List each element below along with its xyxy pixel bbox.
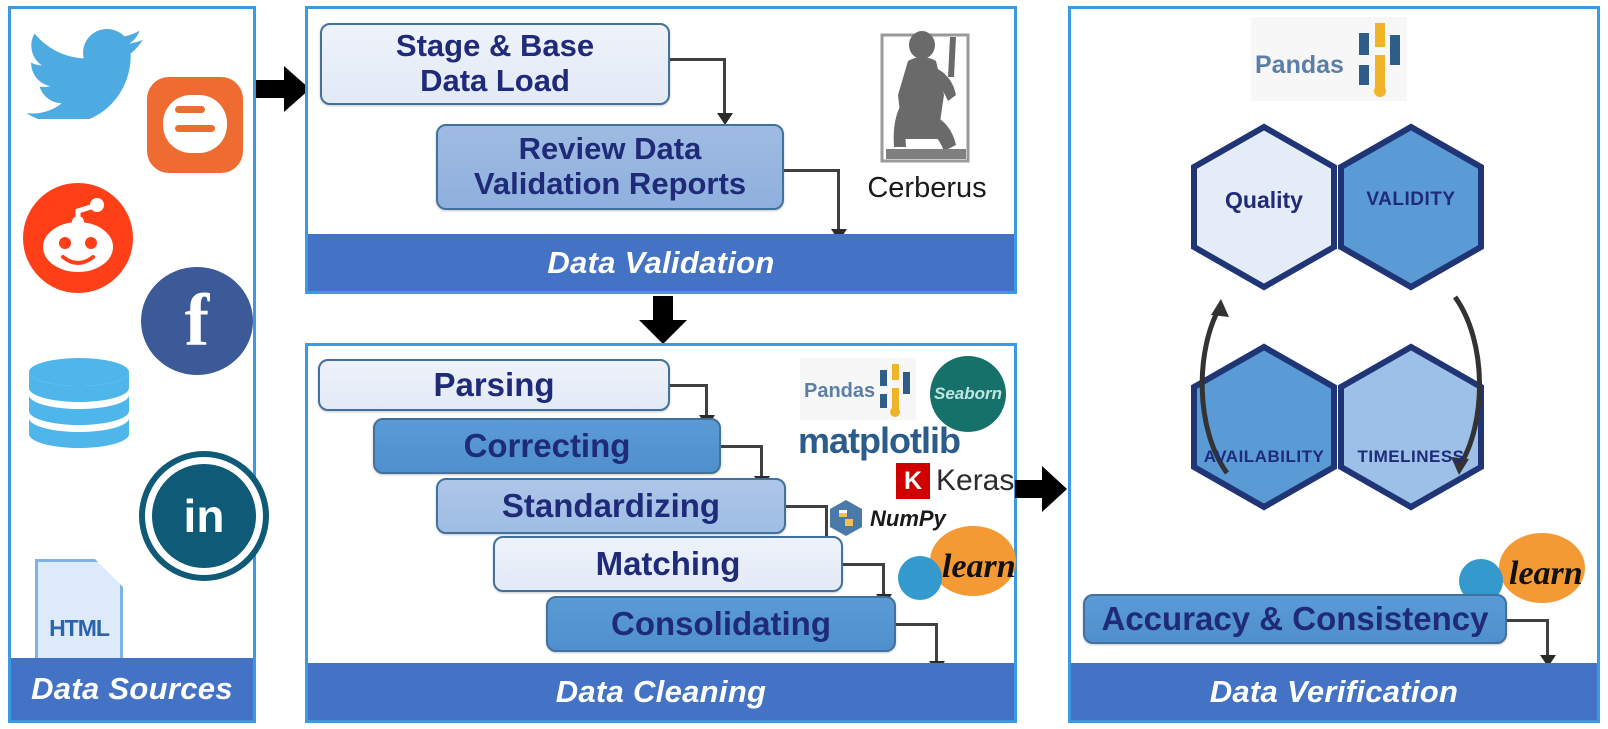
cerberus-label: Cerberus xyxy=(864,172,990,205)
matplotlib-logo-label: matplotlib xyxy=(798,420,960,461)
process-box-matching[interactable]: Matching xyxy=(493,536,843,592)
keras-logo-label: Keras xyxy=(936,464,1014,498)
hexagon-cluster xyxy=(1149,119,1489,539)
keras-logo: K Keras xyxy=(896,463,1008,503)
panel-footer-label: Data Cleaning xyxy=(556,674,767,710)
process-box-line1: Stage & Base xyxy=(396,29,594,64)
process-box-line1: Review Data xyxy=(474,132,746,167)
panel-data-validation: Stage & Base Data Load Review Data Valid… xyxy=(305,6,1017,294)
connector-c5-h xyxy=(896,623,938,626)
connector-1-h xyxy=(670,58,726,61)
html-file-icon: HTML xyxy=(35,559,123,669)
connector-v1-v xyxy=(1546,619,1549,657)
html-file-label: HTML xyxy=(38,615,120,642)
keras-logo-mark: K xyxy=(896,463,930,499)
pandas-logo-label: Pandas xyxy=(1255,51,1344,80)
connector-1-v xyxy=(723,58,726,115)
panel-footer-label: Data Verification xyxy=(1210,674,1459,710)
panel-footer-data-sources: Data Sources xyxy=(11,658,253,720)
connector-2-h xyxy=(784,169,840,172)
pandas-logo: Pandas xyxy=(1251,17,1407,101)
arrow-cleaning-to-verification xyxy=(1015,466,1067,512)
process-box-stage-base-data-load[interactable]: Stage & Base Data Load xyxy=(320,23,670,105)
panel-data-verification: Pandas Quality VALIDIT xyxy=(1068,6,1600,723)
facebook-icon: f xyxy=(141,267,253,375)
seaborn-logo-label: Seaborn xyxy=(934,384,1002,404)
process-box-review-data-validation-reports[interactable]: Review Data Validation Reports xyxy=(436,124,784,210)
connector-c1-h xyxy=(670,384,708,387)
panel-footer-data-verification: Data Verification xyxy=(1071,663,1597,720)
arrow-sources-to-validation xyxy=(256,66,310,112)
blogger-icon xyxy=(147,77,243,173)
hexagon-label-timeliness: TIMELINESS xyxy=(1296,447,1526,467)
cerberus-logo: Cerberus xyxy=(864,17,990,177)
reddit-icon xyxy=(23,183,133,293)
panel-footer-data-validation: Data Validation xyxy=(308,234,1014,291)
connector-2-v xyxy=(837,169,840,231)
panel-data-cleaning: Parsing Correcting Standardizing Matchin… xyxy=(305,343,1017,723)
hexagon-label-validity: VALIDITY xyxy=(1296,189,1526,211)
connector-c4-v xyxy=(882,563,885,596)
process-box-correcting[interactable]: Correcting xyxy=(373,418,721,474)
connector-c3-h xyxy=(786,505,828,508)
linkedin-icon: in xyxy=(145,457,263,575)
twitter-icon xyxy=(27,29,145,119)
scikit-learn-logo-label: learn xyxy=(1509,555,1583,593)
panel-data-sources: f in HTML Data Sources xyxy=(8,6,256,723)
hexagon-availability[interactable] xyxy=(1194,347,1334,507)
connector-c1-v xyxy=(705,384,708,417)
panel-footer-label: Data Validation xyxy=(547,245,774,281)
panel-footer-data-cleaning: Data Cleaning xyxy=(308,663,1014,720)
connector-c2-v xyxy=(760,445,763,478)
process-box-accuracy-consistency[interactable]: Accuracy & Consistency xyxy=(1083,594,1507,644)
panel-footer-label: Data Sources xyxy=(31,671,233,707)
scikit-learn-logo: learn xyxy=(898,526,1018,610)
pandas-logo-label: Pandas xyxy=(804,380,875,403)
diagram-canvas: f in HTML Data Sources xyxy=(0,0,1608,729)
process-box-line2: Validation Reports xyxy=(474,167,746,202)
hexagon-timeliness[interactable] xyxy=(1341,347,1481,507)
matplotlib-logo: matplotlib xyxy=(798,420,960,462)
arrow-validation-to-cleaning xyxy=(639,296,687,344)
database-icon xyxy=(27,357,131,449)
connector-v1-h xyxy=(1507,619,1549,622)
process-box-parsing[interactable]: Parsing xyxy=(318,359,670,411)
connector-c2-h xyxy=(721,445,763,448)
connector-c4-h xyxy=(843,563,885,566)
process-box-standardizing[interactable]: Standardizing xyxy=(436,478,786,534)
scikit-learn-logo-label: learn xyxy=(942,548,1016,586)
process-box-consolidating[interactable]: Consolidating xyxy=(546,596,896,652)
connector-c5-v xyxy=(935,623,938,663)
process-box-line2: Data Load xyxy=(396,64,594,99)
pandas-logo: Pandas xyxy=(800,358,916,420)
